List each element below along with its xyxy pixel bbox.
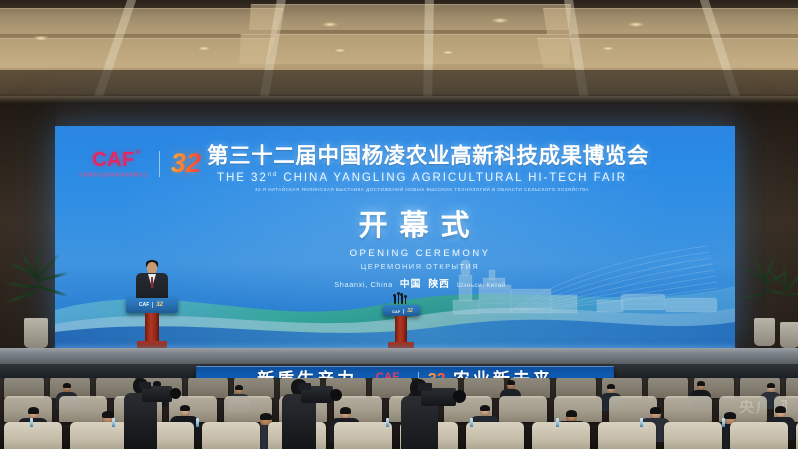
audience-hair [180,405,190,411]
video-camera-lens [330,389,342,401]
audience-seat [466,422,524,449]
scene-photograph: CAF® 中国杨凌农业高新科技成果博览会 32 第三十二届中国杨凌农业高新科技成… [0,0,798,449]
ceremony-title-cn: 开幕式 [235,212,605,241]
ceiling-downlight [33,36,49,41]
water-bottle [386,418,389,427]
audience-seat [556,378,596,398]
audience-hair [767,383,775,388]
ceiling-downlight [332,48,348,53]
audience-seat [598,422,656,449]
ceiling-downlight [628,22,644,27]
podium-right: CAF 32 [378,294,424,350]
video-camera-viewfinder [139,382,151,389]
event-title-en-ordinal: nd [268,172,278,178]
caf-wordmark-text: CAF [92,149,135,171]
ceiling-downlight [196,46,212,51]
video-camera-viewfinder [418,383,432,391]
audience-seat [188,378,228,398]
audience-area [0,378,798,449]
caf-logo: CAF® 中国杨凌农业高新科技成果博览会 [79,150,148,177]
ceiling-downlight [492,18,508,23]
camera-operator [120,378,162,448]
audience-seat [532,422,590,449]
audience-seat [664,422,722,449]
audience-hair [63,383,71,388]
plant-pot [24,318,48,348]
water-bottle [30,418,33,427]
ceremony-block: 开幕式 OPENING CEREMONY ЦЕРЕМОНИЯ ОТКРЫТИЯ [235,212,605,271]
podium-emblem-divider [152,302,153,308]
potted-palm-right-2 [768,266,798,350]
podium-column [145,313,159,341]
event-title-en: THE 32nd CHINA YANGLING AGRICULTURAL HI-… [207,171,637,184]
audience-seat [554,396,602,422]
audience-seat [4,378,44,398]
audience-hair [775,406,786,413]
podium-emblem: CAF 32 [139,302,163,308]
event-title-en-pre: THE 32 [217,171,268,184]
audience-seat [4,422,62,449]
podium-edition-number: 32 [156,302,163,308]
caf-subtitle-cn: 中国杨凌农业高新科技成果博览会 [79,173,148,177]
caf-wordmark: CAF® [92,150,135,170]
audience-seat [730,422,788,449]
audience-seat [59,396,107,422]
trademark-icon: ® [136,150,141,156]
water-bottle [112,418,115,427]
caf-logo-lockup: CAF® 中国杨凌农业高新科技成果博览会 32 [79,150,201,177]
audience-hair [28,407,39,414]
video-camera-lens [453,390,466,403]
podium-caf-mark: CAF [392,309,400,314]
audience-hair [607,384,615,389]
water-bottle [556,418,559,427]
audience-seat [499,396,547,422]
location-en: Shaanxi, China [334,280,393,289]
ceiling-downlight [440,50,456,55]
audience-seat [786,378,798,398]
podium-caf-mark: CAF [139,302,149,308]
microphone-cluster [394,294,406,304]
audience-seat [664,396,712,422]
ceremony-title-ru: ЦЕРЕМОНИЯ ОТКРЫТИЯ [235,262,605,271]
camera-operator [396,378,444,449]
video-camera-lens [170,388,181,399]
location-ru: Шэньси, Китай [457,282,506,289]
plant-pot [780,322,798,348]
audience-hair [235,385,243,390]
video-camera-viewfinder [298,383,311,390]
audience-seat [464,378,504,398]
potted-palm-left [6,252,68,348]
audience-seat [334,422,392,449]
podium-edition-number: 32 [407,308,413,314]
location-cn-province: 陕西 [428,276,450,290]
water-bottle [640,418,643,427]
audience-hair [507,380,515,385]
audience-hair [102,411,114,418]
audience-seat [202,422,260,449]
event-title-ru: 32-Я КИТАЙСКАЯ ЯНЛИНСКАЯ ВЫСТАВКА ДОСТИЖ… [207,187,637,192]
event-title-cn: 第三十二届中国杨凌农业高新科技成果博览会 [207,144,637,168]
ceiling-downlight [322,22,338,27]
camera-operator [278,378,322,449]
podium-emblem-divider [403,309,404,314]
event-title-block: 第三十二届中国杨凌农业高新科技成果博览会 THE 32nd CHINA YANG… [207,144,637,192]
audience-hair [650,407,661,414]
audience-hair [697,381,705,386]
podium-emblem: CAF 32 [392,308,413,314]
location-block: Shaanxi, China 中国 陕西 Шэньси, Китай [235,276,605,290]
audience-hair [566,410,577,417]
ceremony-title-en: OPENING CEREMONY [235,248,605,259]
edition-number: 32 [171,150,201,177]
logo-divider [159,151,160,177]
audience-hair [724,412,736,419]
ceiling-downlight [600,46,616,51]
podium-column [395,316,407,342]
audience-seat [648,378,688,398]
event-title-en-post: CHINA YANGLING AGRICULTURAL HI-TECH FAIR [283,171,627,184]
audience-hair [260,413,272,420]
water-bottle [470,418,473,427]
podium-left: CAF 32 [112,258,192,350]
water-bottle [196,418,199,427]
location-cn-country: 中国 [400,276,422,290]
audience-hair [340,407,351,414]
audience-hair [480,405,490,411]
water-bottle [722,418,725,427]
